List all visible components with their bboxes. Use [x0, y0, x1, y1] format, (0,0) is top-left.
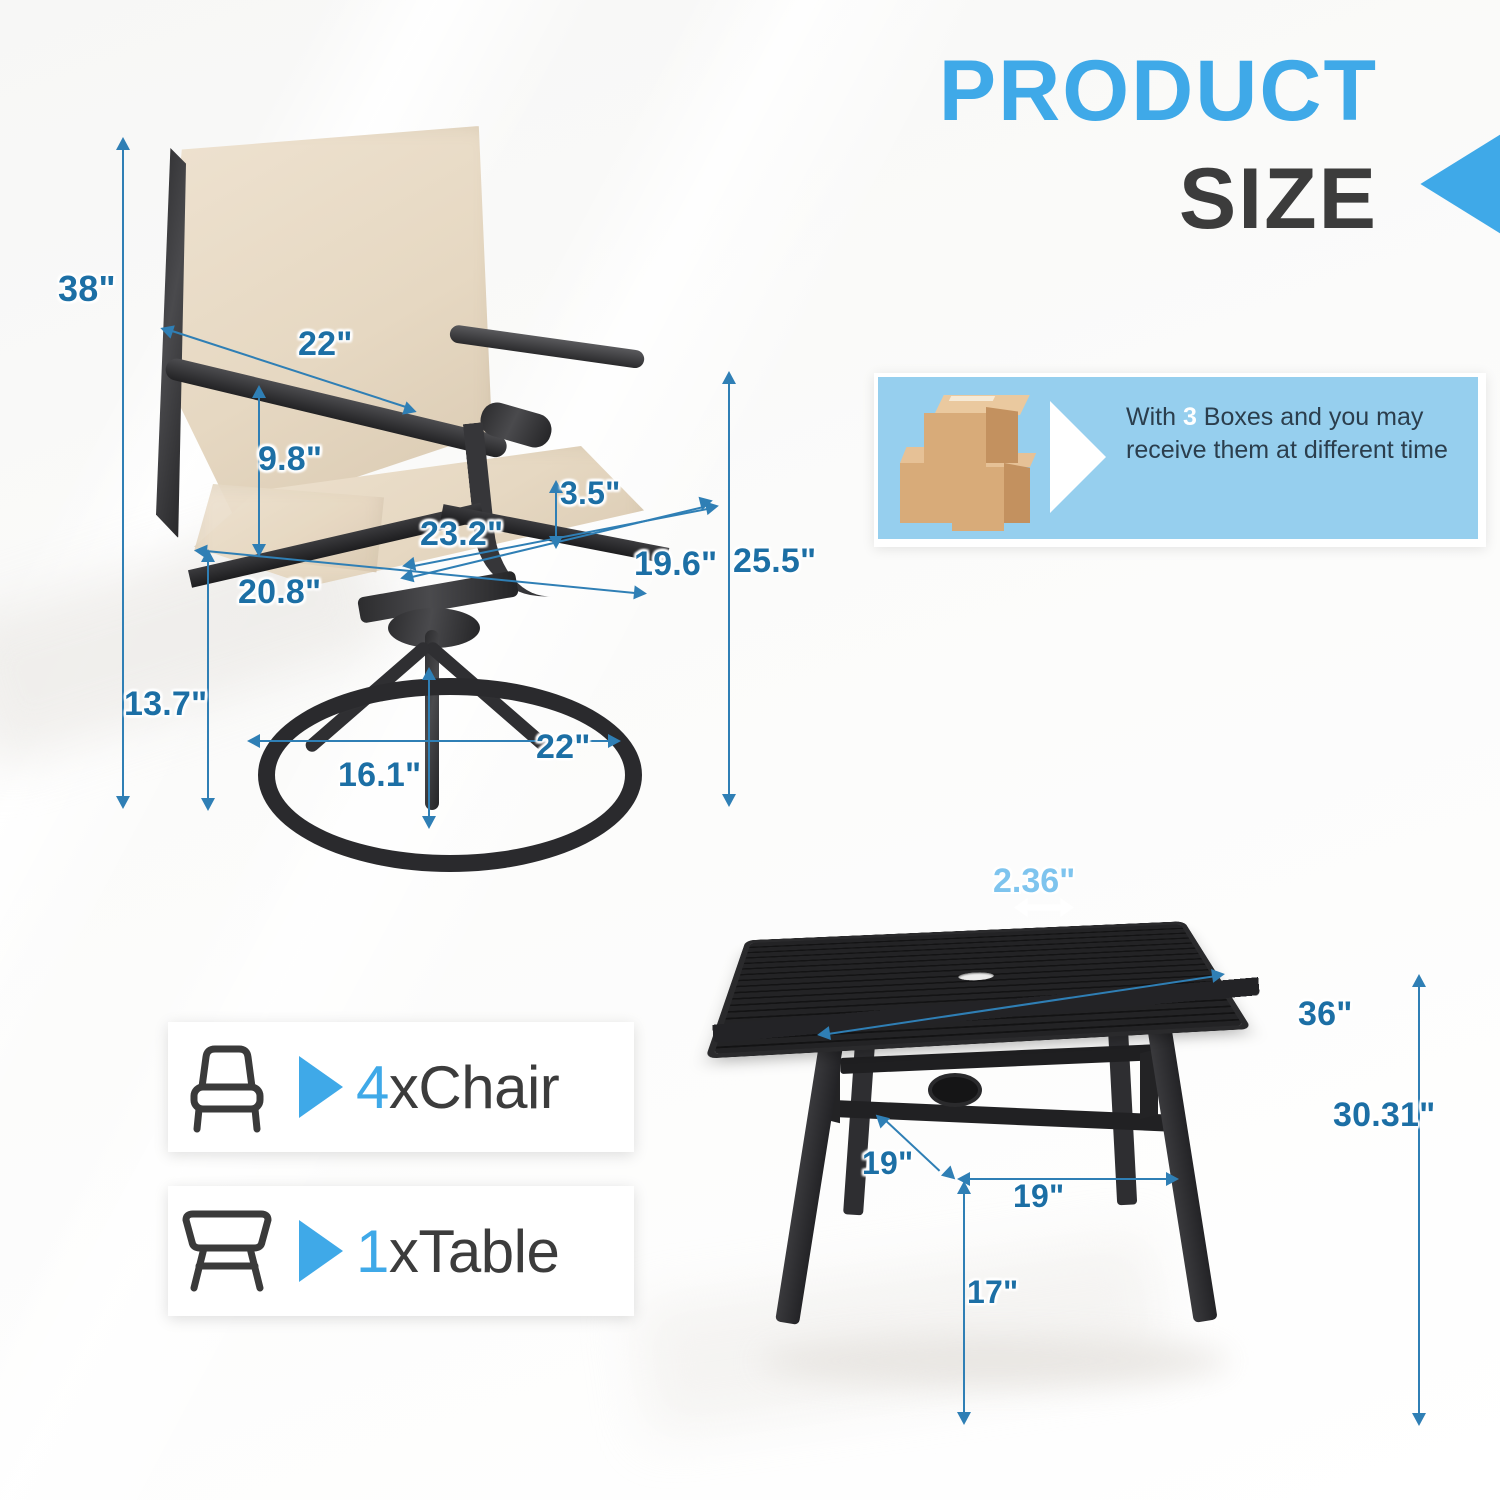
dim-label-base-diameter: 22" — [536, 728, 591, 767]
arrow-down-icon — [116, 796, 130, 809]
dim-label-frame-depth: 20.8" — [238, 573, 321, 612]
arrow-down-icon — [422, 816, 436, 829]
arrow-up-icon — [422, 667, 436, 680]
infographic-canvas: PRODUCT SIZE — [0, 0, 1500, 1500]
dim-label-seat-to-floor: 25.5" — [733, 542, 816, 581]
legend-word-chair: xChair — [389, 1054, 559, 1121]
title-product: PRODUCT — [939, 48, 1378, 134]
arrow-down-icon — [1412, 1413, 1426, 1426]
dim-line-base-depth — [428, 678, 430, 818]
dim-line-seat-to-floor — [728, 382, 730, 796]
legend-label-table: 1xTable — [356, 1217, 559, 1286]
dim-label-base-width: 19" — [1013, 1178, 1064, 1215]
dim-label-back-width: 22" — [298, 325, 353, 364]
dim-label-table-height: 30.31" — [1333, 1096, 1435, 1135]
dim-label-cushion-thickness: 3.5" — [560, 475, 620, 512]
arrow-up-icon — [116, 137, 130, 150]
table-ground-shadow — [760, 1335, 1230, 1387]
arrow-up-icon — [1412, 974, 1426, 987]
arrow-right-icon — [1166, 1172, 1179, 1186]
arrow-right-icon — [608, 734, 621, 748]
dim-line-table-height — [1418, 985, 1420, 1415]
page-title: PRODUCT SIZE — [880, 48, 1500, 268]
arrow-left-icon — [247, 734, 260, 748]
chair-back-frame — [156, 148, 186, 538]
dim-label-crossbar-height: 17" — [967, 1274, 1018, 1311]
chair-back-cushion — [162, 126, 492, 518]
legend-card-chair[interactable]: 4xChair — [168, 1022, 634, 1152]
legend-count-table: 1 — [356, 1218, 389, 1285]
table-leg-front-right — [1142, 993, 1217, 1323]
dim-label-base-depth: 16.1" — [338, 756, 421, 795]
arrow-right-icon — [633, 585, 647, 600]
dim-label-seat-width: 19.6" — [634, 545, 717, 584]
arrow-down-icon — [957, 1412, 971, 1425]
table-leg-front-left — [775, 1005, 849, 1325]
dim-label-overall-height: 38" — [58, 268, 116, 310]
legend-count-chair: 4 — [356, 1054, 389, 1121]
dim-label-base-to-floor: 13.7" — [124, 685, 207, 724]
triangle-right-icon — [1050, 401, 1106, 513]
arrow-down-icon — [201, 798, 215, 811]
triangle-right-icon — [286, 1220, 356, 1282]
double-arrow-horizontal-icon — [1013, 897, 1075, 919]
table-outline-icon — [168, 1208, 286, 1294]
legend-word-table: xTable — [389, 1218, 559, 1285]
arrow-up-icon — [722, 371, 736, 384]
swivel-chair-illustration — [150, 118, 710, 848]
legend-card-table[interactable]: 1xTable — [168, 1186, 634, 1316]
arrow-up-icon — [252, 385, 266, 398]
dim-line-base-width — [968, 1178, 1168, 1180]
arrow-right-icon — [1211, 967, 1226, 983]
shipping-text-before: With — [1126, 403, 1183, 431]
dim-label-tabletop-width: 36" — [1298, 995, 1353, 1034]
cardboard-boxes-icon — [900, 391, 1040, 527]
arrow-up-icon — [957, 1181, 971, 1194]
dim-label-seat-depth: 23.2" — [420, 515, 503, 554]
box-count: 3 — [1183, 403, 1197, 431]
dim-label-seat-height: 9.8" — [258, 440, 322, 479]
triangle-right-icon — [286, 1056, 356, 1118]
chair-swivel-base-ring — [258, 678, 642, 872]
title-size: SIZE — [1179, 156, 1378, 242]
arrow-up-icon — [201, 549, 215, 562]
legend-label-chair: 4xChair — [356, 1053, 559, 1122]
shipping-banner: With 3 Boxes and you may receive them at… — [878, 377, 1478, 539]
table-umbrella-base-holder — [928, 1073, 982, 1107]
shipping-banner-text: With 3 Boxes and you may receive them at… — [1126, 401, 1464, 467]
dim-line-base-to-floor — [207, 560, 209, 800]
dim-line-crossbar-height — [963, 1192, 965, 1414]
dim-label-base-depth: 19" — [862, 1145, 913, 1182]
dim-line-cushion-thickness — [555, 490, 557, 538]
chevron-left-icon — [1394, 126, 1500, 242]
dining-table-illustration — [700, 815, 1320, 1425]
dim-label-umbrella-hole: 2.36" — [993, 862, 1075, 901]
arrow-left-icon — [816, 1026, 831, 1042]
arrow-down-icon — [722, 794, 736, 807]
chair-outline-icon — [168, 1041, 286, 1133]
